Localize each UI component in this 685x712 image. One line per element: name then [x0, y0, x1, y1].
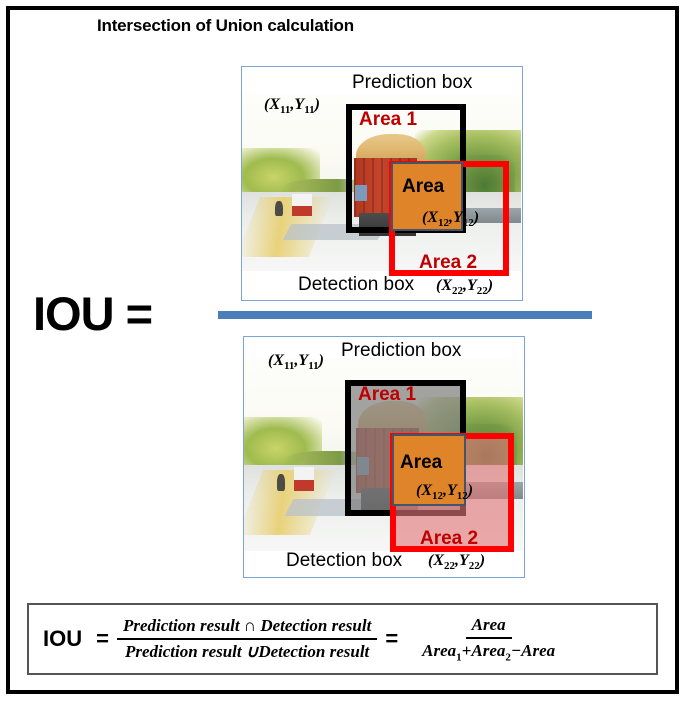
coord-x22-y22-bottom: (X22,Y22) — [428, 553, 485, 572]
coord-x12-y12-bottom: (X12,Y12) — [416, 483, 473, 502]
formula-denominator-2: Area1+Area2−Area — [416, 639, 561, 665]
figure-root: Intersection of Union calculation IOU = — [0, 0, 685, 712]
formula-numerator-1: Prediction result ∩ Detection result — [117, 614, 377, 640]
distant-truck — [294, 467, 314, 492]
formula-numerator-2: Area — [466, 613, 512, 639]
coord-x11-y11-bottom: (X11,Y11) — [268, 353, 324, 372]
prediction-box-label-bottom: Prediction box — [341, 341, 461, 360]
formula-fraction-2: Area Area1+Area2−Area — [416, 613, 561, 665]
motorcyclist — [275, 201, 282, 217]
iou-equals-label: IOU = — [33, 286, 152, 341]
formula-denominator-1: Prediction result ∪Detection result — [119, 640, 375, 664]
area-label-bottom: Area — [400, 453, 442, 472]
formula-equals-2: = — [385, 626, 398, 652]
area1-label-bottom: Area 1 — [358, 385, 416, 404]
coord-x12-y12-top: (X12,Y12) — [422, 210, 479, 229]
area2-label-top: Area 2 — [419, 253, 477, 272]
formula-box: IOU = Prediction result ∩ Detection resu… — [27, 603, 658, 675]
formula-row: IOU = Prediction result ∩ Detection resu… — [29, 605, 656, 673]
coord-x22-y22-top: (X22,Y22) — [436, 278, 493, 297]
formula-equals-1: = — [96, 626, 109, 652]
coord-x11-y11-top: (X11,Y11) — [264, 97, 320, 116]
page-title: Intersection of Union calculation — [97, 16, 354, 36]
numerator-panel: Prediction box (X11,Y11) Area 1 Area (X1… — [241, 66, 523, 301]
fraction-bar — [218, 311, 592, 319]
area1-label-top: Area 1 — [359, 110, 417, 129]
area2-label-bottom: Area 2 — [420, 529, 478, 548]
denominator-panel: Prediction box (X11,Y11) Area 1 Area (X1… — [243, 336, 525, 578]
motorcyclist — [277, 474, 284, 491]
detection-box-label-top: Detection box — [298, 275, 414, 294]
formula-fraction-1: Prediction result ∩ Detection result Pre… — [117, 614, 377, 664]
prediction-box-label-top: Prediction box — [352, 73, 472, 92]
formula-iou-label: IOU — [43, 626, 82, 652]
detection-box-label-bottom: Detection box — [286, 551, 402, 570]
distant-truck — [292, 194, 312, 217]
area-label-top: Area — [402, 177, 444, 196]
